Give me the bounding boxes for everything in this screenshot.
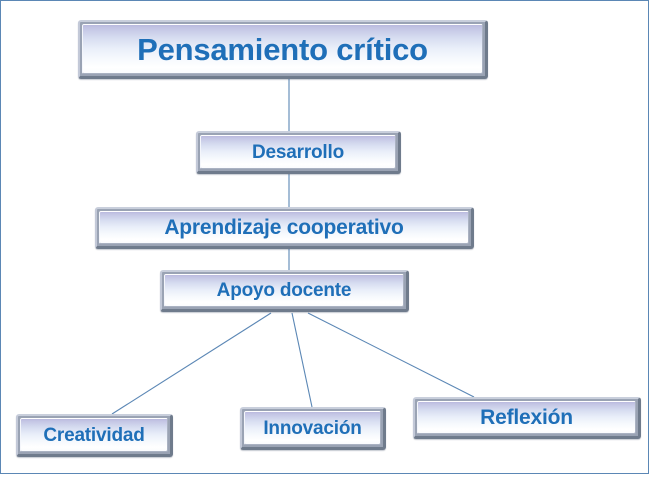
- node-reflexion[interactable]: Reflexión: [413, 397, 641, 439]
- node-label: Pensamiento crítico: [137, 34, 428, 65]
- node-label: Innovación: [263, 419, 361, 438]
- node-body: Aprendizaje cooperativo: [99, 211, 469, 244]
- connector-apoyo-reflexion: [308, 313, 474, 397]
- node-label: Aprendizaje cooperativo: [164, 217, 403, 238]
- node-apoyo-docente[interactable]: Apoyo docente: [160, 270, 409, 312]
- node-body: Reflexión: [417, 401, 636, 434]
- node-creatividad[interactable]: Creatividad: [16, 414, 173, 457]
- node-label: Reflexión: [480, 407, 573, 428]
- connector-apoyo-innovacion: [292, 313, 312, 407]
- node-body: Desarrollo: [200, 135, 396, 169]
- node-label: Desarrollo: [252, 143, 344, 162]
- node-pensamiento-critico[interactable]: Pensamiento crítico: [78, 20, 488, 79]
- node-aprendizaje-cooperativo[interactable]: Aprendizaje cooperativo: [95, 207, 474, 249]
- node-body: Innovación: [244, 411, 381, 445]
- node-innovacion[interactable]: Innovación: [240, 407, 386, 450]
- diagram-canvas: Pensamiento crítico Desarrollo Aprendiza…: [0, 0, 649, 478]
- node-label: Apoyo docente: [217, 281, 352, 300]
- connector-apoyo-creatividad: [112, 313, 271, 414]
- node-body: Pensamiento crítico: [82, 24, 483, 74]
- node-body: Apoyo docente: [164, 274, 404, 307]
- node-body: Creatividad: [20, 418, 168, 452]
- node-desarrollo[interactable]: Desarrollo: [196, 131, 401, 174]
- node-label: Creatividad: [43, 426, 144, 445]
